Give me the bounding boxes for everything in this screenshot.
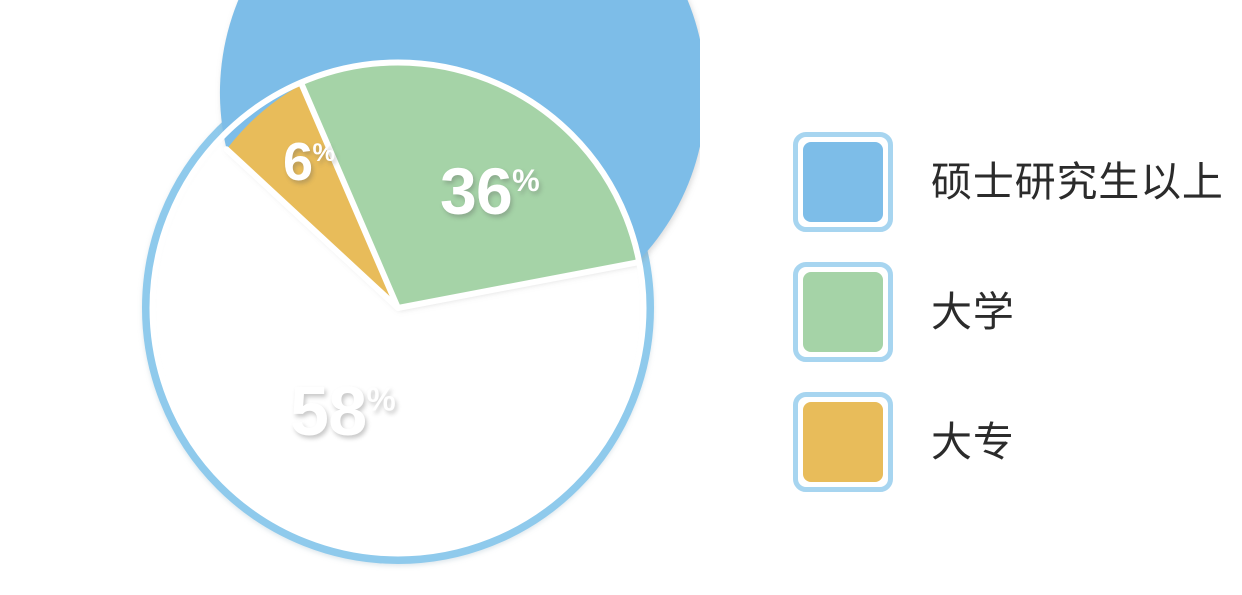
pie-chart-svg	[0, 0, 700, 595]
slice-value-green: 36	[440, 154, 512, 228]
legend-label-gold: 大专	[931, 422, 1015, 463]
legend-swatch-green-fill	[803, 272, 883, 352]
legend-item-gold[interactable]: 大专	[793, 392, 1223, 492]
legend-item-blue[interactable]: 硕士研究生以上	[793, 132, 1223, 232]
pie-chart: 58% 36% 6%	[0, 0, 700, 595]
slice-value-gold: 6	[283, 132, 313, 192]
legend-swatch-green	[793, 262, 893, 362]
percent-sign-green: %	[512, 163, 540, 198]
legend-swatch-gold	[793, 392, 893, 492]
slice-value-label-gold: 6%	[283, 135, 335, 189]
legend-item-green[interactable]: 大学	[793, 262, 1223, 362]
chart-legend: 硕士研究生以上 大学 大专	[793, 132, 1223, 492]
slice-value-label-blue: 58%	[290, 376, 396, 446]
chart-canvas: 58% 36% 6% 硕士研究生以上 大学 大专	[0, 0, 1242, 595]
legend-swatch-blue	[793, 132, 893, 232]
percent-sign-blue: %	[366, 381, 395, 418]
legend-label-blue: 硕士研究生以上	[931, 162, 1224, 203]
slice-value-label-green: 36%	[440, 158, 540, 224]
percent-sign-gold: %	[313, 139, 336, 167]
slice-value-blue: 58	[290, 372, 366, 450]
legend-label-green: 大学	[931, 292, 1015, 333]
legend-swatch-blue-fill	[803, 142, 883, 222]
legend-swatch-gold-fill	[803, 402, 883, 482]
